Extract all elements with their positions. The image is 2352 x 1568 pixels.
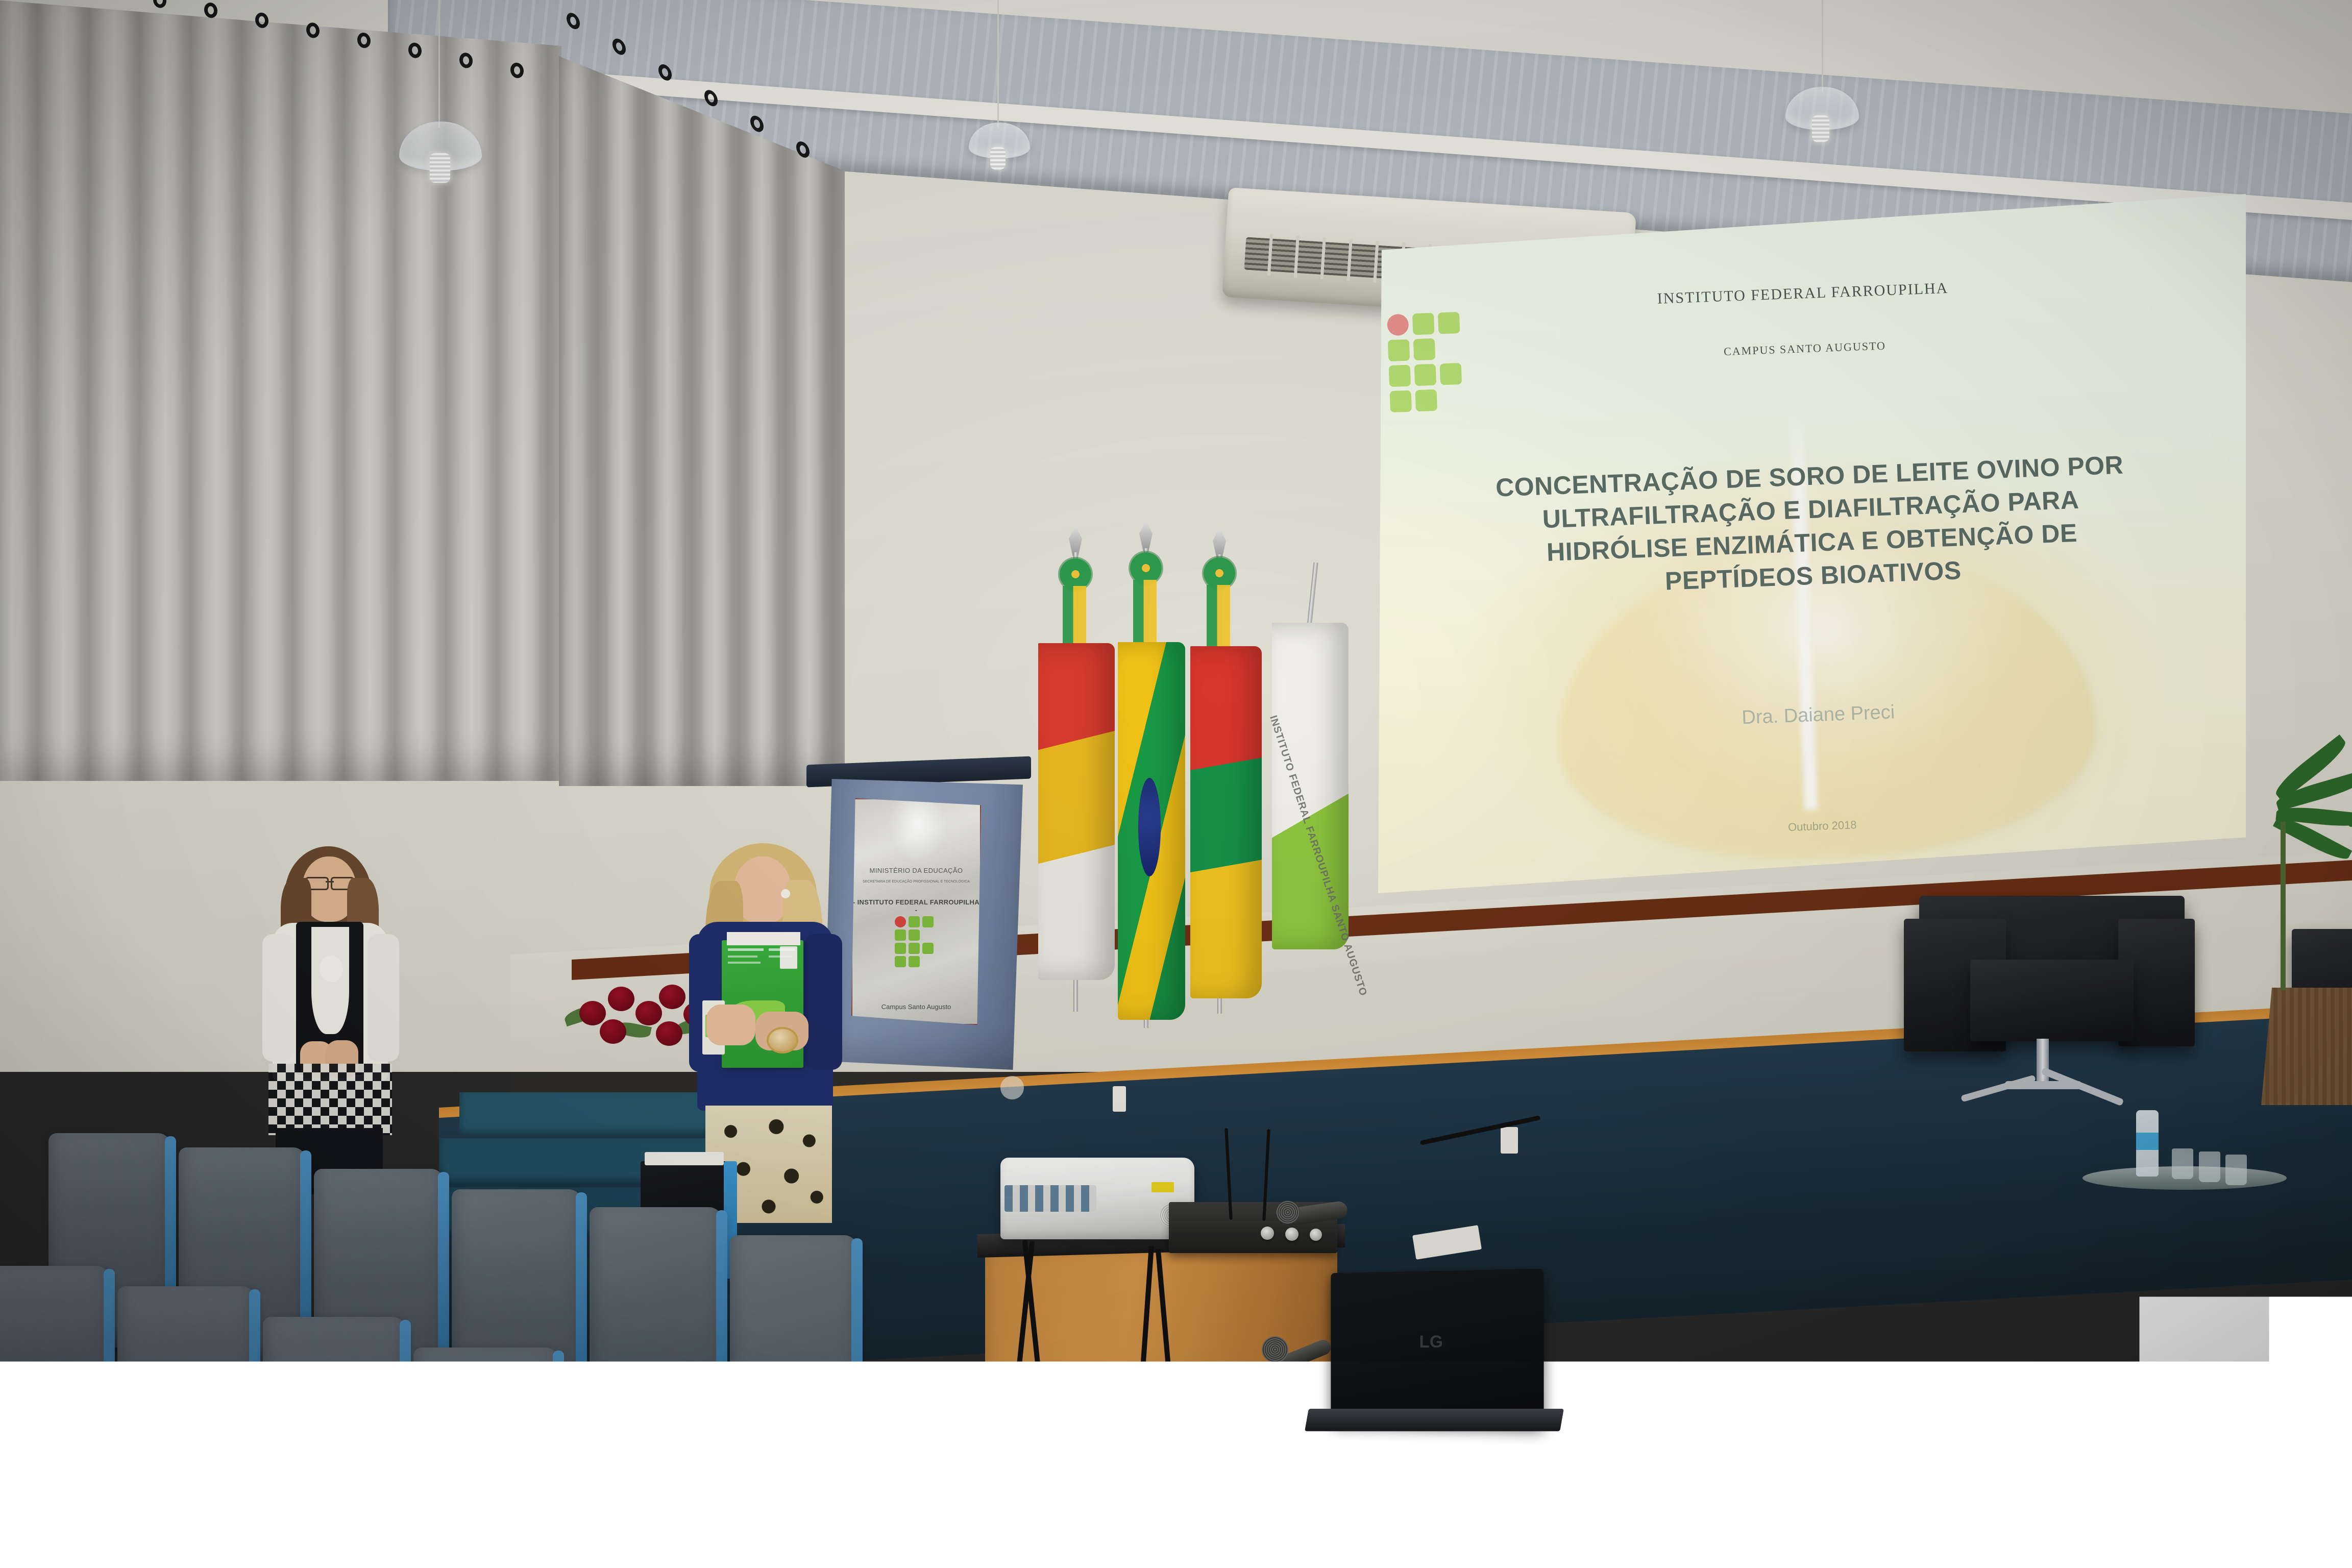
wristwatch xyxy=(769,1029,796,1051)
curtain-right-of-left xyxy=(559,56,845,786)
drinking-glass-1 xyxy=(2172,1148,2193,1179)
earring xyxy=(781,889,790,898)
plaque-if-logo xyxy=(895,916,938,965)
palm-plant xyxy=(2195,755,2352,995)
laptop-brand-logo: LG xyxy=(1419,1332,1443,1352)
armchair-stem xyxy=(2037,1039,2049,1085)
laptop[interactable]: LG xyxy=(1331,1269,1543,1427)
laptop-keyboard-base[interactable] xyxy=(1305,1409,1564,1431)
slide-title: CONCENTRAÇÃO DE SORO DE LEITE OVINO POR … xyxy=(1436,446,2187,606)
amplifier-asset-tag xyxy=(1552,1484,1587,1498)
plaque-glare xyxy=(888,798,947,862)
drinking-glass-2 xyxy=(2199,1151,2220,1182)
auditorium-scene: INSTITUTO FEDERAL FARROUPILHA CAMPUS SAN… xyxy=(0,0,2352,1568)
flag-if-label: INSTITUTO FEDERAL FARROUPILHA SANTO AUGU… xyxy=(1267,714,1298,780)
seat-row3-1[interactable] xyxy=(0,1429,97,1568)
plaque-secretariat: SECRETARIA DE EDUCAÇÃO PROFISSIONAL E TE… xyxy=(852,880,980,884)
projector xyxy=(1000,1158,1194,1239)
microphone-head-1 xyxy=(1276,1200,1300,1224)
amplifier-model: MF 1200 BT xyxy=(1268,1480,1330,1492)
patterned-skirt xyxy=(268,1064,392,1135)
microphone-head-2 xyxy=(1262,1336,1288,1363)
blouse-bow xyxy=(320,955,343,982)
seat-row3-3[interactable] xyxy=(271,1490,434,1568)
projector-label xyxy=(1151,1182,1174,1192)
pendant-lamp-right xyxy=(1776,0,1868,168)
podium: MINISTÉRIO DA EDUCAÇÃO SECRETARIA DE EDU… xyxy=(827,761,1041,1082)
podium-plaque: MINISTÉRIO DA EDUCAÇÃO SECRETARIA DE EDU… xyxy=(851,798,981,1025)
amplifier-grille xyxy=(1259,1501,1596,1567)
pendant-lamp-left xyxy=(388,0,490,204)
seat-row3-4[interactable] xyxy=(442,1516,610,1568)
plaque-campus: Campus Santo Augusto xyxy=(852,1003,980,1011)
hand-left xyxy=(706,1004,755,1045)
slide-organization: INSTITUTO FEDERAL FARROUPILHA xyxy=(1369,269,2237,318)
stage-prop-bottle xyxy=(1501,1127,1518,1154)
flag-stand-group: INSTITUTO FEDERAL FARROUPILHA SANTO AUGU… xyxy=(1031,526,1358,1041)
water-bottle xyxy=(2136,1110,2159,1177)
seat-right-aisle[interactable] xyxy=(730,1235,857,1568)
seat-row3-2[interactable] xyxy=(105,1460,263,1568)
pendant-lamp-center xyxy=(960,0,1036,168)
plant-pot xyxy=(2261,988,2352,1105)
projection-screen: INSTITUTO FEDERAL FARROUPILHA CAMPUS SAN… xyxy=(1378,194,2246,893)
eyeglasses xyxy=(305,877,354,887)
stage-prop-cup xyxy=(1113,1086,1126,1112)
projector-ports xyxy=(1004,1185,1096,1212)
armchair-seat-cushion xyxy=(1970,960,2134,1041)
plaque-institute: - INSTITUTO FEDERAL FARROUPILHA - xyxy=(852,898,980,914)
stage-prop-glass xyxy=(1000,1076,1024,1099)
drinking-glass-3 xyxy=(2225,1155,2247,1185)
amplifier-brand: FRAHM xyxy=(1506,1486,1541,1498)
plaque-ministry: MINISTÉRIO DA EDUCAÇÃO xyxy=(852,867,980,874)
slide-campus: CAMPUS SANTO AUGUSTO xyxy=(1371,327,2239,372)
